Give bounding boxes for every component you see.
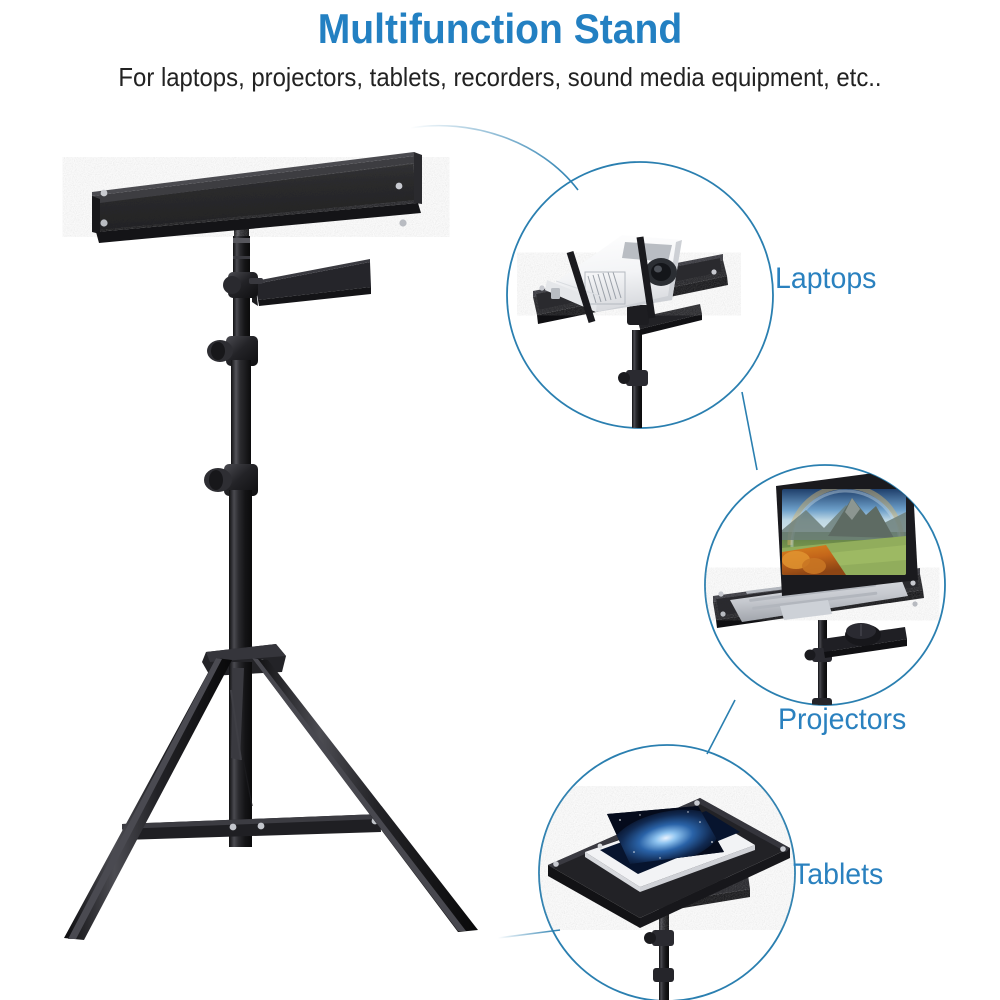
main-tray <box>92 152 422 243</box>
tray-screw <box>101 190 108 197</box>
callout-label-projectors: Projectors <box>778 703 906 737</box>
tray-screw <box>100 219 107 226</box>
callout-laptops <box>507 162 773 440</box>
telescoping-pole-lower <box>229 490 252 670</box>
callout-tablets <box>539 745 795 1000</box>
callout-label-tablets: Tablets <box>793 858 883 892</box>
callout-projectors <box>705 465 945 720</box>
tripod-leg-left <box>64 658 232 940</box>
tripod-leg-right <box>252 658 478 932</box>
telescoping-pole-mid <box>231 360 251 478</box>
tray-screw <box>396 183 403 190</box>
infographic-canvas: Multifunction Stand For laptops, project… <box>0 0 1000 1000</box>
tripod-stand <box>64 152 478 940</box>
callout-label-laptops: Laptops <box>775 262 876 296</box>
product-illustration <box>0 0 1000 1000</box>
tray-screw <box>399 219 406 226</box>
